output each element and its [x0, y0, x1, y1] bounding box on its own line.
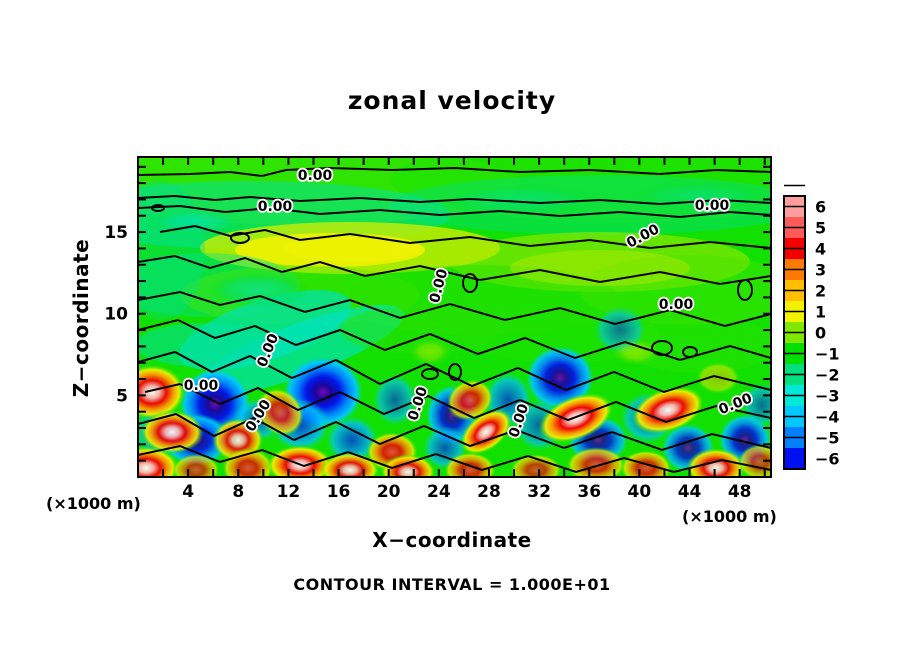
colorbar-tick-label: 5	[815, 219, 826, 238]
contour-label: 0.00	[258, 199, 293, 215]
colorbar-tick-label: −1	[815, 345, 840, 364]
y-axis-title: Z−coordinate	[69, 239, 93, 398]
y-tick-label: 10	[104, 305, 128, 325]
y-axis-unit-label: (×1000 m)	[46, 494, 141, 513]
plot-panel: 0.000.000.000.000.000.000.000.000.000.00…	[50, 138, 850, 490]
x-tick-label: 4	[182, 482, 194, 502]
x-axis-unit-label: (×1000 m)	[682, 507, 777, 526]
x-axis-title: X−coordinate	[372, 528, 531, 552]
x-tick-label: 36	[577, 482, 601, 502]
colorbar-tick-label: −3	[815, 387, 840, 406]
colorbar-tick-label: −5	[815, 429, 840, 448]
x-tick-label: 16	[327, 482, 351, 502]
x-tick-label: 24	[427, 482, 451, 502]
x-tick-label: 44	[678, 482, 702, 502]
colorbar-tick-label: 3	[815, 261, 826, 280]
colorbar-tick-label: 2	[815, 282, 826, 301]
colorbar-tick-label: −2	[815, 366, 840, 385]
x-tick-label: 40	[628, 482, 652, 502]
velocity-field: 0.000.000.000.000.000.000.000.000.000.00…	[50, 138, 850, 490]
y-tick-label: 15	[104, 223, 128, 243]
page-title: zonal velocity	[348, 86, 556, 115]
colorbar-tick-label: 1	[815, 303, 826, 322]
contour-interval-caption: CONTOUR INTERVAL = 1.000E+01	[293, 575, 610, 594]
colorbar-tick-label: 0	[815, 324, 826, 343]
x-tick-label: 8	[232, 482, 244, 502]
colorbar-tick-label: 4	[815, 240, 826, 259]
contour-label: 0.00	[298, 168, 333, 184]
colorbar-tick-label: −4	[815, 408, 840, 427]
x-tick-label: 20	[377, 482, 401, 502]
contour-label: 0.00	[659, 297, 694, 313]
colorbar-tick-label: 6	[815, 198, 826, 217]
contour-label: 0.00	[184, 378, 219, 394]
zonal-velocity-contour-figure: zonal velocity	[0, 0, 904, 654]
x-tick-label: 12	[277, 482, 301, 502]
x-tick-label: 32	[527, 482, 551, 502]
colorbar-tick-label: −6	[815, 450, 840, 469]
contour-label: 0.00	[695, 198, 730, 214]
x-tick-label: 48	[728, 482, 752, 502]
y-tick-label: 5	[116, 386, 128, 406]
x-tick-label: 28	[477, 482, 501, 502]
